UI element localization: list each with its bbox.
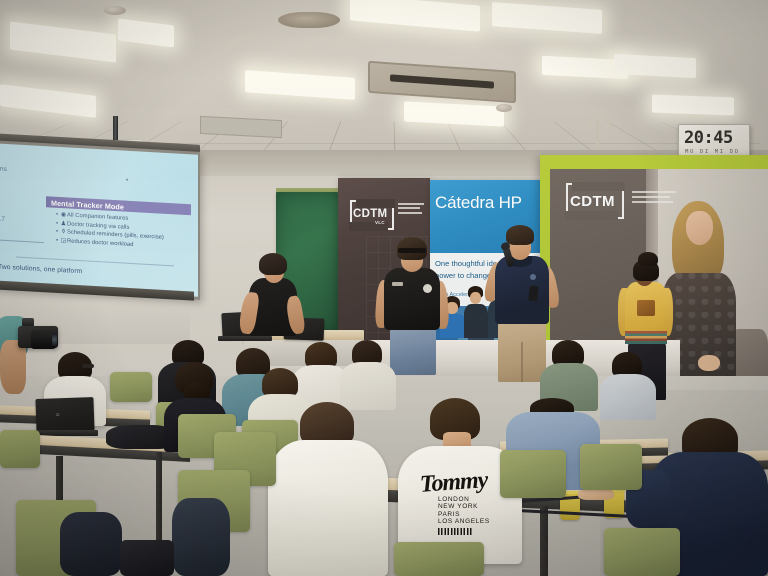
ceiling-light — [0, 84, 96, 118]
tagline-line — [398, 212, 422, 214]
polo-logo — [530, 274, 536, 280]
sunglasses-icon — [398, 248, 426, 253]
tagline-line — [632, 201, 673, 203]
tommy-city: LOS ANGELES — [438, 518, 502, 525]
chair[interactable] — [500, 450, 566, 498]
ceiling-light — [614, 54, 696, 78]
projection-screen: ons 4.7 Mental Tracker Mode •◉All Compan… — [0, 140, 200, 300]
chair[interactable] — [604, 528, 680, 576]
person-presenter-black-tee-torso — [384, 268, 440, 330]
tommy-barcode — [438, 528, 472, 535]
backpack[interactable] — [172, 498, 230, 576]
smartphone-icon — [528, 286, 539, 302]
backpack[interactable] — [60, 512, 122, 576]
check-circle-icon: ◉ — [60, 211, 67, 218]
laptop-icon[interactable] — [35, 397, 94, 433]
tagline-line — [398, 207, 420, 209]
person-speaker-leg-split — [521, 342, 523, 382]
person-presenter-jeans — [390, 327, 436, 375]
cdtm-large-logo: CDTM — [566, 183, 624, 219]
clock-time: 20:45 — [684, 128, 733, 148]
slide-card: Mental Tracker Mode •◉All Companion feat… — [46, 196, 191, 252]
ceiling-light — [245, 70, 355, 100]
person-laptop-operator-hair — [259, 253, 287, 275]
smoke-detector-icon — [104, 6, 126, 15]
chair[interactable] — [110, 372, 152, 402]
photographer-arm — [0, 340, 26, 394]
cdtm-large-tagline-lines — [632, 191, 676, 205]
tagline-line — [398, 203, 424, 205]
ceiling-light — [10, 21, 116, 62]
slide-fragment-top: ons — [0, 165, 7, 173]
desk-leg — [540, 506, 548, 576]
doctor-icon: ♟ — [60, 219, 67, 226]
photo-person-shirt — [464, 304, 488, 338]
chair[interactable] — [580, 444, 642, 490]
camera-lens-icon — [31, 330, 58, 349]
audience-torso — [600, 374, 656, 420]
ceiling-light — [652, 95, 734, 116]
classroom-scene: 20:45 MO DI MI DO FR ons 4.7 Mental Trac… — [0, 0, 768, 576]
tommy-city: NEW YORK — [438, 503, 502, 510]
desk-leg — [156, 452, 162, 548]
tshirt-graphic — [423, 284, 432, 293]
cdtm-wordmark: CDTM — [353, 208, 387, 220]
pill-icon: ⚱ — [60, 228, 67, 235]
top-patterned-hem — [625, 331, 667, 344]
chart-icon: ◲ — [60, 236, 67, 243]
cdtm-vlc-suffix: VLC — [375, 220, 385, 225]
audience-glasses-icon — [82, 364, 94, 368]
cdtm-vlc-tagline-lines — [398, 203, 424, 216]
presentation-slide: ons 4.7 Mental Tracker Mode •◉All Compan… — [0, 143, 198, 296]
tommy-city: PARIS — [438, 511, 502, 518]
person-yellow-hair-bun — [638, 252, 658, 266]
tommy-city: LONDON — [438, 496, 502, 503]
tommy-brand-script: Tommy — [419, 469, 502, 496]
audience-torso — [340, 362, 396, 410]
ceiling-light — [118, 19, 174, 48]
person-speaker-hair — [506, 225, 534, 245]
smoke-detector-icon — [496, 104, 512, 112]
laptop-base — [218, 336, 272, 341]
slide-divider — [0, 239, 44, 243]
cdtm-wordmark: CDTM — [570, 193, 615, 210]
ceiling-opening — [278, 12, 340, 28]
hp-banner-title: Cátedra HP — [435, 193, 522, 213]
audience-torso — [268, 440, 388, 576]
slide-bullet-text: Reduces doctor workload — [67, 238, 134, 248]
tagline-line — [632, 196, 670, 198]
jacket-on-desk — [106, 425, 172, 449]
chair[interactable] — [0, 430, 40, 468]
air-conditioning-vent — [368, 61, 516, 103]
laptop-brand-label: ⬭ — [56, 412, 60, 417]
slide-bullet-dot — [126, 179, 128, 181]
banner-person-face — [686, 211, 713, 245]
tshirt-text-patch — [392, 282, 403, 286]
top-graphic-print — [637, 300, 655, 316]
banner-person-hand — [698, 355, 720, 371]
photo-person-face — [470, 292, 481, 304]
ceiling-light — [350, 0, 480, 32]
laptop-bag[interactable] — [120, 540, 174, 576]
ceiling-light — [492, 2, 602, 34]
cdtm-vlc-logo: CDTM VLC — [350, 200, 394, 230]
slide-footer-text: Two solutions, one platform — [0, 264, 82, 276]
slide-fragment-left: 4.7 — [0, 215, 5, 223]
chair[interactable] — [394, 542, 484, 576]
tagline-line — [632, 191, 676, 193]
